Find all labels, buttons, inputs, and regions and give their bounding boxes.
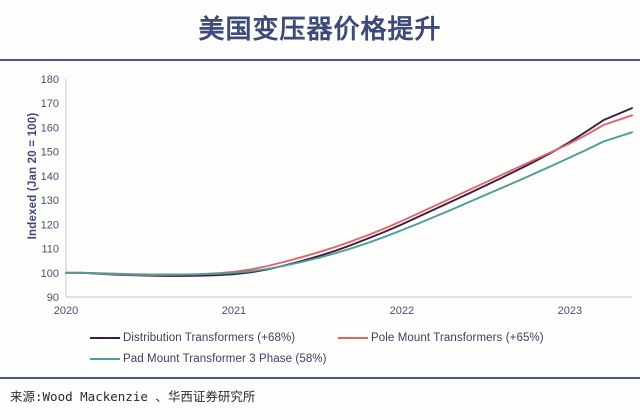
legend-label-pad-mount: Pad Mount Transformer 3 Phase (58%) xyxy=(123,353,327,365)
x-tick-label: 2022 xyxy=(390,305,414,317)
series-line xyxy=(66,115,632,275)
y-tick-label: 160 xyxy=(41,122,59,134)
y-tick-label: 120 xyxy=(41,219,59,231)
x-tick-label: 2020 xyxy=(54,305,78,317)
legend-item-pad-mount[interactable]: Pad Mount Transformer 3 Phase (58%) xyxy=(90,353,327,365)
y-tick-label: 150 xyxy=(41,147,59,159)
title-block: 美国变压器价格提升 xyxy=(0,0,640,58)
legend-label-distribution: Distribution Transformers (+68%) xyxy=(123,332,295,344)
chart-page: 美国变压器价格提升 Indexed (Jan 20 = 100) 9010011… xyxy=(0,0,640,420)
y-axis-title: Indexed (Jan 20 = 100) xyxy=(27,81,39,271)
y-tick-label: 90 xyxy=(47,292,59,304)
y-axis-ticks: 90100110120130140150160170180 xyxy=(41,74,59,304)
y-tick-label: 140 xyxy=(41,171,59,183)
legend-label-pole-mount: Pole Mount Transformers (+65%) xyxy=(371,332,544,344)
line-chart-svg: 90100110120130140150160170180 2020202120… xyxy=(0,62,640,322)
footer-divider xyxy=(0,377,640,379)
y-tick-label: 130 xyxy=(41,195,59,207)
page-title: 美国变压器价格提升 xyxy=(198,16,441,42)
legend-item-distribution[interactable]: Distribution Transformers (+68%) xyxy=(90,332,295,344)
y-tick-label: 110 xyxy=(41,244,59,256)
y-tick-label: 170 xyxy=(41,98,59,110)
y-tick-label: 100 xyxy=(41,268,59,280)
chart-plot-area: Indexed (Jan 20 = 100) 90100110120130140… xyxy=(0,62,640,322)
chart-legend: Distribution Transformers (+68%) Pole Mo… xyxy=(0,328,640,374)
legend-item-pole-mount[interactable]: Pole Mount Transformers (+65%) xyxy=(338,332,544,344)
source-note: 来源:Wood Mackenzie 、华西证券研究所 xyxy=(10,386,255,405)
y-tick-label: 180 xyxy=(41,74,59,86)
x-tick-label: 2021 xyxy=(222,305,246,317)
x-axis-ticks: 2020202120222023 xyxy=(54,305,582,317)
legend-swatch-pole-mount-icon xyxy=(338,337,368,339)
title-divider xyxy=(0,59,640,61)
x-tick-label: 2023 xyxy=(558,305,582,317)
legend-swatch-pad-mount-icon xyxy=(90,358,120,360)
legend-swatch-distribution-icon xyxy=(90,337,120,339)
series-lines xyxy=(66,108,632,276)
series-line xyxy=(66,108,632,276)
